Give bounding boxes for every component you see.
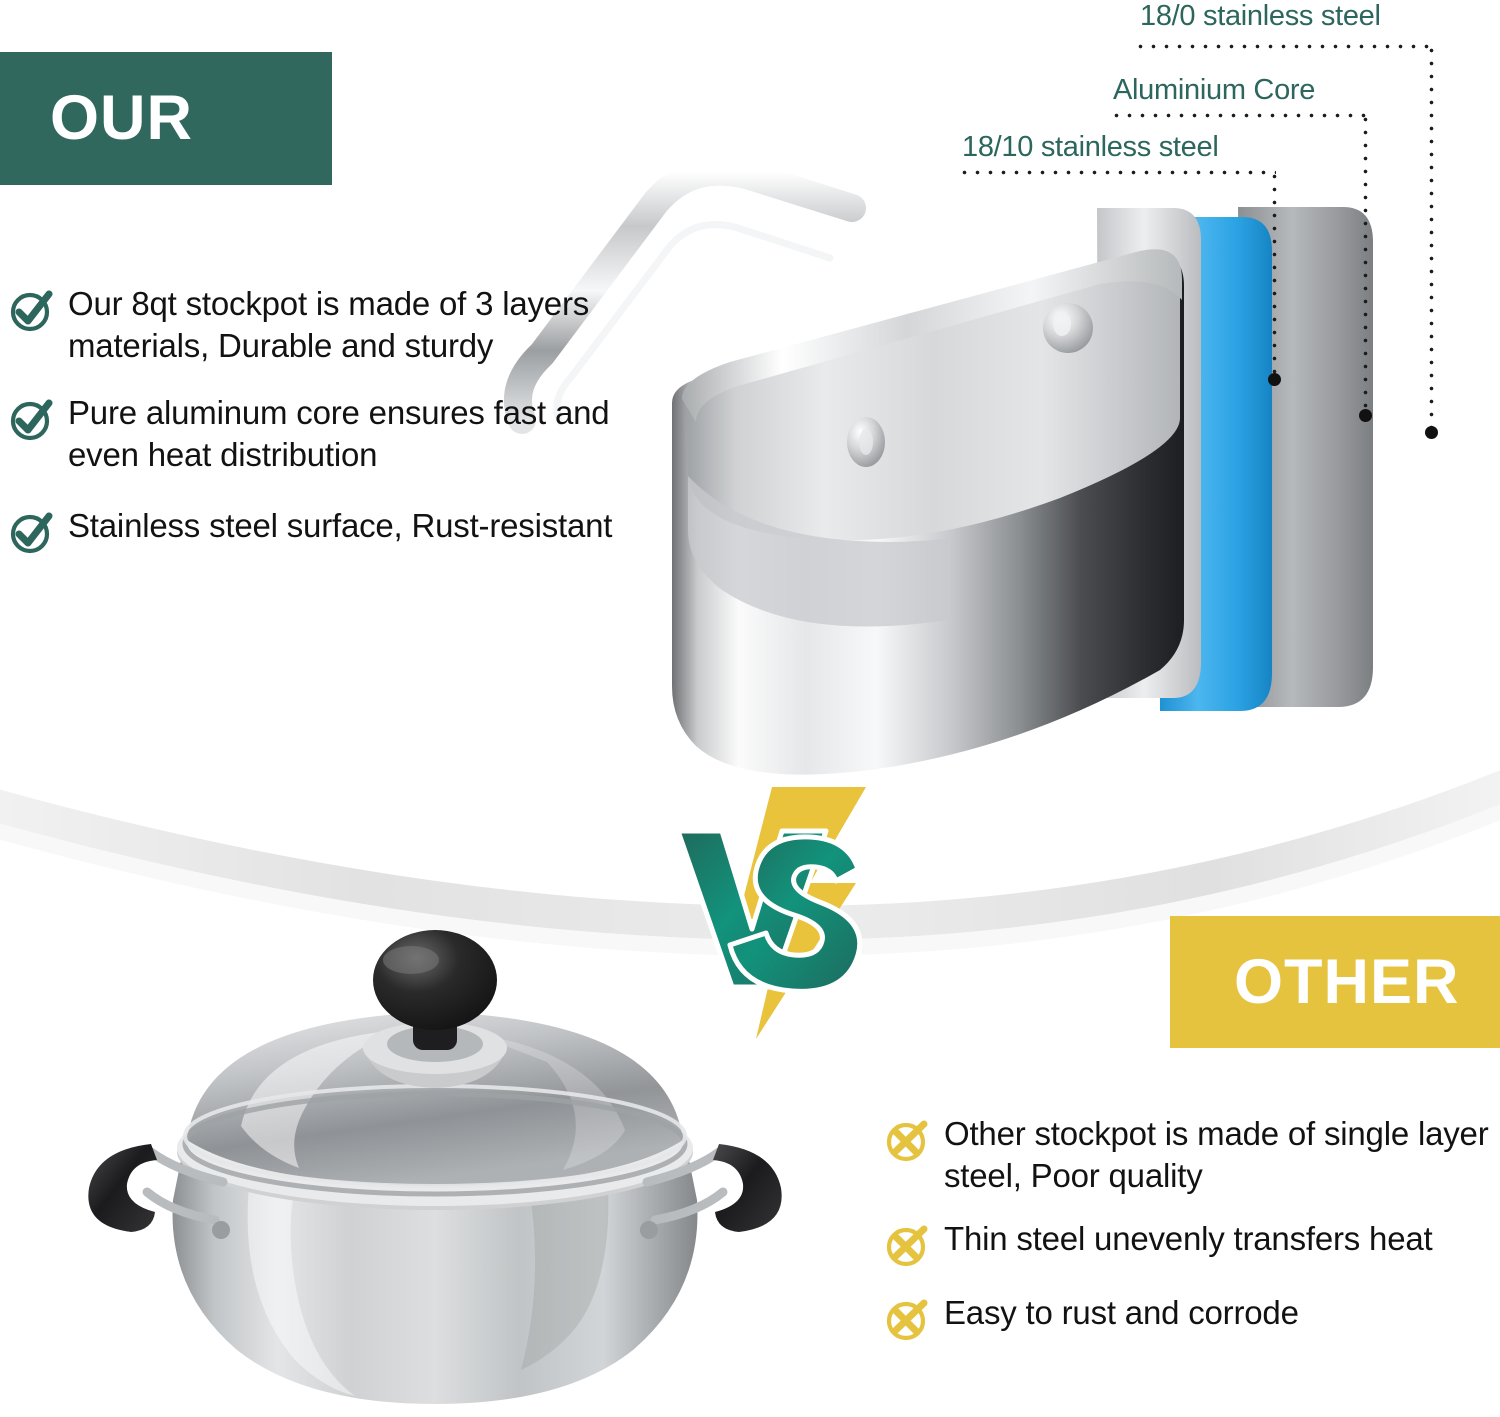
leader-line-outer-h	[1134, 44, 1434, 49]
other-drawback-list: Other stockpot is made of single layer s…	[884, 1113, 1496, 1368]
list-item-label: Thin steel unevenly transfers heat	[944, 1218, 1432, 1260]
leader-line-outer-v	[1429, 44, 1434, 430]
list-item: Our 8qt stockpot is made of 3 layers mat…	[8, 283, 628, 366]
list-item-label: Pure aluminum core ensures fast and even…	[68, 392, 628, 475]
leader-line-core-v	[1363, 113, 1368, 413]
leader-endpoint-core	[1359, 409, 1372, 422]
check-circle-icon	[8, 287, 54, 333]
x-circle-icon	[884, 1222, 930, 1268]
check-circle-icon	[8, 396, 54, 442]
check-circle-icon	[8, 509, 54, 555]
x-circle-icon	[884, 1117, 930, 1163]
list-item-label: Stainless steel surface, Rust-resistant	[68, 505, 612, 547]
x-circle-icon	[884, 1296, 930, 1342]
list-item: Other stockpot is made of single layer s…	[884, 1113, 1496, 1196]
our-banner-label: OUR	[50, 87, 193, 150]
leader-line-core-h	[1110, 113, 1367, 118]
list-item: Thin steel unevenly transfers heat	[884, 1218, 1496, 1268]
our-feature-list: Our 8qt stockpot is made of 3 layers mat…	[8, 283, 628, 581]
versus-logo	[660, 775, 895, 1045]
callout-label-outer-layer: 18/0 stainless steel	[1140, 0, 1381, 33]
callout-label-inner-layer: 18/10 stainless steel	[962, 131, 1218, 164]
comparison-infographic: OUR Our 8qt stockpot is made of 3 layers…	[0, 0, 1500, 1417]
leader-line-inner-v	[1272, 170, 1277, 377]
list-item: Stainless steel surface, Rust-resistant	[8, 505, 628, 555]
other-banner: OTHER	[1170, 916, 1500, 1048]
list-item-label: Easy to rust and corrode	[944, 1292, 1299, 1334]
leader-endpoint-inner	[1268, 373, 1281, 386]
leader-line-inner-h	[958, 170, 1276, 175]
other-banner-label: OTHER	[1234, 951, 1460, 1014]
list-item-label: Our 8qt stockpot is made of 3 layers mat…	[68, 283, 628, 366]
list-item-label: Other stockpot is made of single layer s…	[944, 1113, 1496, 1196]
list-item: Easy to rust and corrode	[884, 1292, 1496, 1342]
list-item: Pure aluminum core ensures fast and even…	[8, 392, 628, 475]
callout-label-aluminium-core: Aluminium Core	[1113, 74, 1315, 107]
our-banner: OUR	[0, 52, 332, 185]
leader-endpoint-outer	[1425, 426, 1438, 439]
